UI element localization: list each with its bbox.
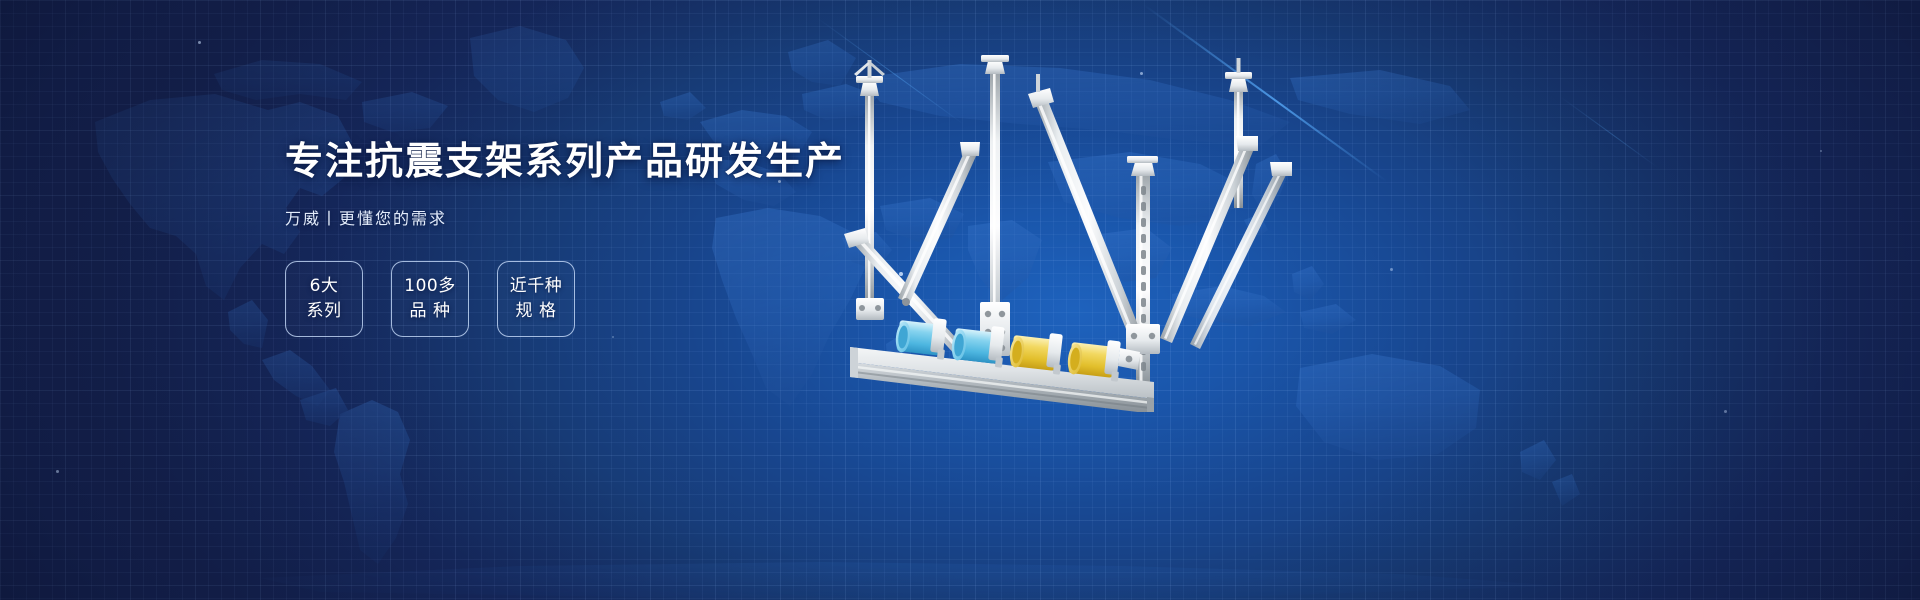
- brace-connector-plate-left: [856, 298, 884, 320]
- diagonal-brace-center-right: [1028, 74, 1144, 344]
- feature-badge-group: 6大 系列 100多 品 种 近千种 规 格: [285, 261, 805, 337]
- brace-connector-plate-right: [1126, 324, 1160, 354]
- diagonal-brace-left-inner: [898, 142, 980, 306]
- star-dot: [56, 470, 59, 473]
- star-dot: [1820, 150, 1822, 152]
- product-image-seismic-bracing: [838, 52, 1358, 412]
- feature-badge-specifications[interactable]: 近千种 规 格: [497, 261, 575, 337]
- hero-banner: 专注抗震支架系列产品研发生产 万威丨更懂您的需求 6大 系列 100多 品 种 …: [0, 0, 1920, 600]
- feature-badge-series[interactable]: 6大 系列: [285, 261, 363, 337]
- hero-headline: 专注抗震支架系列产品研发生产: [285, 140, 805, 183]
- badge-line-1: 6大: [310, 274, 339, 299]
- badge-line-1: 近千种: [510, 274, 563, 299]
- hero-text-block: 专注抗震支架系列产品研发生产 万威丨更懂您的需求 6大 系列 100多 品 种 …: [285, 140, 805, 337]
- badge-line-2: 系列: [307, 299, 342, 324]
- star-dot: [1724, 410, 1727, 413]
- hero-subtitle: 万威丨更懂您的需求: [285, 205, 805, 229]
- star-dot: [198, 41, 201, 44]
- badge-line-1: 100多: [404, 274, 455, 299]
- badge-line-2: 品 种: [410, 299, 451, 324]
- badge-line-2: 规 格: [516, 299, 557, 324]
- feature-badge-varieties[interactable]: 100多 品 种: [391, 261, 469, 337]
- star-dot: [1390, 268, 1393, 271]
